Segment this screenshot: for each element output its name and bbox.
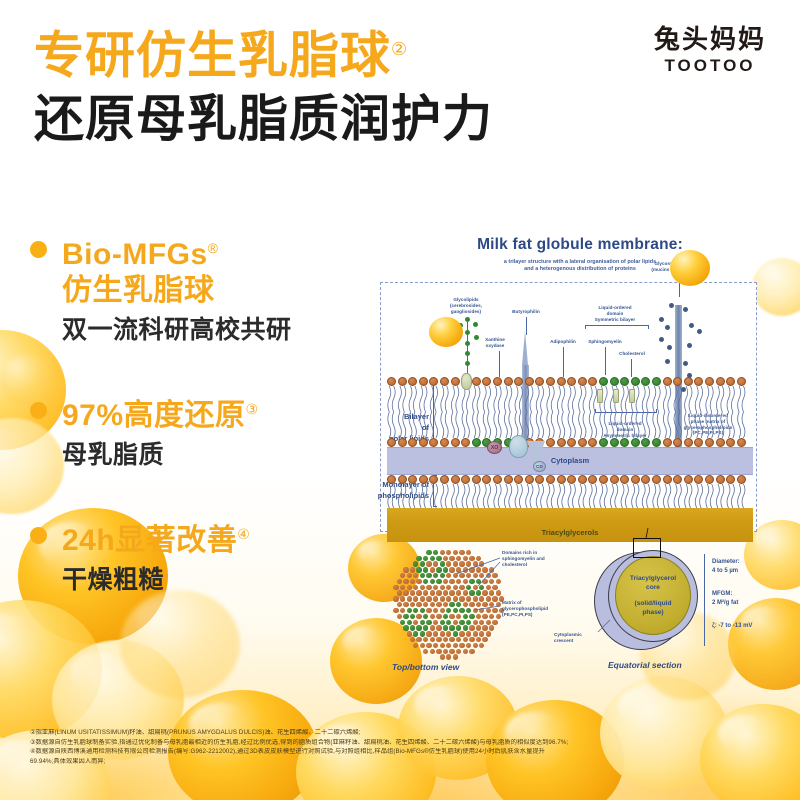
phospholipid-head <box>493 475 502 484</box>
sphingomyelin-domain-dot <box>446 608 451 613</box>
phospholipid-head <box>525 475 534 484</box>
glycerophospholipid-matrix-dot <box>446 585 451 590</box>
sphingomyelin-domain-dot <box>420 620 425 625</box>
leader-line <box>563 347 564 377</box>
brand-name-en: TOOTOO <box>654 55 766 77</box>
triacylglycerol-core-circle: Triacylglycerol core (solid/liquid phase… <box>615 556 691 635</box>
glycerophospholipid-matrix-dot <box>456 567 461 572</box>
phospholipid-head <box>451 438 460 447</box>
glycerophospholipid-matrix-dot <box>446 654 451 659</box>
glycerophospholipid-matrix-dot <box>489 602 494 607</box>
phospholipid-head <box>387 475 396 484</box>
sphingomyelin-domain-dot <box>413 561 418 566</box>
label-line: (solid/liquid <box>630 599 676 608</box>
sphingomyelin-head <box>610 438 619 447</box>
sphingomyelin-head <box>631 438 640 447</box>
glycerophospholipid-matrix-dot <box>410 637 415 642</box>
sphingomyelin-domain-dot <box>416 556 421 561</box>
glycerophospholipid-matrix-dot <box>443 602 448 607</box>
headline-block: 专研仿生乳脂球② 还原母乳脂质润护力 <box>34 20 493 149</box>
phospholipid-head <box>726 377 735 386</box>
glycerophospholipid-matrix-dot <box>456 579 461 584</box>
glycerophospholipid-matrix-dot <box>476 602 481 607</box>
sphingomyelin-domain-dot <box>420 608 425 613</box>
sphingomyelin-domain-dot <box>416 625 421 630</box>
phospholipid-head <box>578 475 587 484</box>
phospholipid-head <box>482 475 491 484</box>
label-line: (PE,PC,PI,PS) <box>502 612 572 618</box>
label-matrix-glycerophospholipid: Matrix of glycerophospholipid (PE,PC,PI,… <box>502 600 572 617</box>
glycerophospholipid-matrix-dot <box>416 614 421 619</box>
phospholipid-head <box>419 475 428 484</box>
glycolipid-stem <box>467 317 468 375</box>
sphingomyelin-head <box>641 438 650 447</box>
feature-item-24h: 24h显著改善④ 干燥粗糙 <box>0 516 370 597</box>
glycerophospholipid-matrix-dot <box>479 573 484 578</box>
sphingomyelin-head <box>610 377 619 386</box>
feature-title-text: 24h显著改善 <box>62 524 237 557</box>
glyco-node <box>697 329 702 334</box>
phospholipid-head <box>567 475 576 484</box>
glycerophospholipid-matrix-dot <box>476 637 481 642</box>
glycerophospholipid-matrix-dot <box>489 567 494 572</box>
feature-title-text: Bio-MFGs <box>62 238 208 271</box>
feature-subtitle: 母乳脂质 <box>62 438 370 472</box>
sphingomyelin-domain-dot <box>413 631 418 636</box>
glycolipid-node <box>465 330 470 335</box>
leader-line <box>605 347 606 375</box>
glycerophospholipid-matrix-dot <box>440 550 445 555</box>
glycerophospholipid-matrix-dot <box>482 602 487 607</box>
phospholipid-head <box>726 438 735 447</box>
sphingomyelin-domain-dot <box>436 579 441 584</box>
phospholipid-head <box>525 377 534 386</box>
feature-title-superscript: ④ <box>237 526 250 542</box>
phospholipid-head <box>716 377 725 386</box>
bullet-dot-icon <box>30 527 47 544</box>
glycerophospholipid-matrix-dot <box>440 654 445 659</box>
glycerophospholipid-matrix-dot <box>459 550 464 555</box>
diagram-subtitle-line2: and a heterogenous distribution of prote… <box>370 266 790 273</box>
lipid-tail-group <box>387 386 753 412</box>
phospholipid-head <box>716 475 725 484</box>
glycerophospholipid-matrix-dot <box>407 631 412 636</box>
label-glycolipids: Glycolipids (cerebrosides, gangliosides) <box>437 297 495 314</box>
sphingomyelin-domain-dot <box>436 556 441 561</box>
sphingomyelin-domain-dot <box>426 620 431 625</box>
sphingomyelin-head <box>620 377 629 386</box>
phospholipid-head <box>493 377 502 386</box>
phospholipid-head <box>387 438 396 447</box>
outer-leaflet-heads <box>387 377 753 386</box>
sphingomyelin-domain-dot <box>420 573 425 578</box>
label-butyrophilin: Butyrophilin <box>501 309 551 315</box>
glycerophospholipid-matrix-dot <box>482 590 487 595</box>
feature-item-restoration: 97%高度还原③ 母乳脂质 <box>0 391 370 472</box>
glycerophospholipid-matrix-dot <box>479 608 484 613</box>
sphingomyelin-domain-dot <box>436 567 441 572</box>
metric-line: ζ: -7 to -13 mV <box>712 622 752 631</box>
sphingomyelin-domain-dot <box>453 631 458 636</box>
phospholipid-head <box>737 377 746 386</box>
glycerophospholipid-matrix-dot <box>449 556 454 561</box>
glycerophospholipid-matrix-dot <box>469 556 474 561</box>
glycerophospholipid-matrix-dot <box>479 561 484 566</box>
feature-title: 24h显著改善④ <box>62 516 370 559</box>
label-line: gangliosides) <box>437 309 495 315</box>
glycerophospholipid-matrix-dot <box>473 620 478 625</box>
diagram-title: Milk fat globule membrane: <box>370 236 790 254</box>
label-line: Butyrophilin <box>501 309 551 315</box>
inner-leaflet-tails <box>387 412 753 438</box>
diagram-subtitle: a trilayer structure with a lateral orga… <box>370 259 790 273</box>
glycolipid-node <box>465 317 470 322</box>
glycerophospholipid-matrix-dot <box>492 608 497 613</box>
glycerophospholipid-matrix-dot <box>466 561 471 566</box>
glycerophospholipid-matrix-dot <box>466 573 471 578</box>
sphingomyelin-domain-dot <box>456 625 461 630</box>
feature-title-text: 97%高度还原 <box>62 399 246 432</box>
label-line: phase) <box>630 608 676 617</box>
glycerophospholipid-matrix-dot <box>476 625 481 630</box>
glycerophospholipid-matrix-dot <box>449 579 454 584</box>
zoom-region-box <box>633 538 661 558</box>
sphingomyelin-domain-dot <box>410 625 415 630</box>
glycerophospholipid-matrix-dot <box>430 614 435 619</box>
sphingomyelin-domain-dot <box>469 590 474 595</box>
glycerophospholipid-matrix-dot <box>486 585 491 590</box>
glycerophospholipid-matrix-dot <box>489 625 494 630</box>
glycerophospholipid-matrix-dot <box>496 602 501 607</box>
glycerophospholipid-matrix-dot <box>426 596 431 601</box>
glycerophospholipid-matrix-dot <box>473 596 478 601</box>
glycerophospholipid-matrix-dot <box>466 550 471 555</box>
phospholipid-head <box>684 475 693 484</box>
feature-title: Bio-MFGs® <box>62 230 370 273</box>
label-cholesterol: Cholesterol <box>607 351 657 357</box>
glycerophospholipid-matrix-dot <box>469 637 474 642</box>
phospholipid-head <box>461 438 470 447</box>
sphingomyelin-domain-dot <box>463 614 468 619</box>
label-sphingomyelin: Sphingomyelin <box>577 339 633 345</box>
glycerophospholipid-matrix-dot <box>440 596 445 601</box>
membrane-schematic-box: Bilayer of polar lipids Monolayer of pho… <box>380 282 757 532</box>
glycerophospholipid-matrix-dot <box>410 567 415 572</box>
sphingomyelin-domain-dot <box>400 620 405 625</box>
phospholipid-head <box>429 377 438 386</box>
sphingomyelin-domain-dot <box>440 561 445 566</box>
glycerophospholipid-matrix-dot <box>403 567 408 572</box>
cholesterol-molecule <box>597 389 603 403</box>
glycerophospholipid-matrix-dot <box>486 596 491 601</box>
glycerophospholipid-matrix-dot <box>449 649 454 654</box>
membrane-dot-circle <box>388 542 504 658</box>
glycerophospholipid-matrix-dot <box>436 625 441 630</box>
label-line: Sphingomyelin <box>577 339 633 345</box>
leader-line <box>499 351 500 377</box>
brace-symmetric-domain <box>585 325 649 329</box>
glycerophospholipid-matrix-dot <box>446 573 451 578</box>
label-line: core <box>630 583 676 592</box>
phospholipid-head <box>663 438 672 447</box>
glycerophospholipid-matrix-dot <box>463 590 468 595</box>
footnote-block: ②指亚麻(LINUM USITATISSIMUM)籽油、甜扁桃(PRUNUS A… <box>30 729 790 767</box>
glycerophospholipid-matrix-dot <box>416 637 421 642</box>
sphingomyelin-domain-dot <box>476 579 481 584</box>
phospholipid-head <box>398 438 407 447</box>
phospholipid-head <box>631 475 640 484</box>
glycerophospholipid-matrix-dot <box>436 602 441 607</box>
feature-title-line2: 仿生乳脂球 <box>62 273 370 309</box>
footnote-line: ④数据源自陕西博溪通用检测科技有限公司检测报告(编号:G962-2212002)… <box>30 748 790 757</box>
diagram-subtitle-line1: a trilayer structure with a lateral orga… <box>370 259 790 266</box>
product-detail-page: 专研仿生乳脂球② 还原母乳脂质润护力 兔头妈妈 TOOTOO Bio-MFGs®… <box>0 0 800 800</box>
phospholipid-head <box>652 475 661 484</box>
glycerophospholipid-matrix-dot <box>407 585 412 590</box>
sphingomyelin-domain-dot <box>426 573 431 578</box>
glycerophospholipid-matrix-dot <box>473 631 478 636</box>
glycerophospholipid-matrix-dot <box>456 649 461 654</box>
glycerophospholipid-matrix-dot <box>433 631 438 636</box>
phospholipid-head <box>705 377 714 386</box>
brand-name-cn: 兔头妈妈 <box>654 24 766 54</box>
glycerophospholipid-matrix-dot <box>413 643 418 648</box>
glycerophospholipid-matrix-dot <box>459 573 464 578</box>
glycerophospholipid-matrix-dot <box>403 602 408 607</box>
glyco-node <box>687 343 692 348</box>
glycerophospholipid-matrix-dot <box>476 556 481 561</box>
glycolipid-node <box>473 322 478 327</box>
phospholipid-head <box>737 438 746 447</box>
label-line: Triacylglycerol <box>630 574 676 583</box>
glycerophospholipid-matrix-dot <box>433 585 438 590</box>
mfgm-diagram: Milk fat globule membrane: a trilayer st… <box>370 228 790 678</box>
cholesterol-molecule <box>629 389 635 403</box>
phospholipid-head <box>663 377 672 386</box>
monolayer-tails <box>387 484 753 508</box>
glycerophospholipid-matrix-dot <box>400 573 405 578</box>
feature-item-bio-mfgs: Bio-MFGs® 仿生乳脂球 双一流科研高校共研 <box>0 230 370 347</box>
sphingomyelin-domain-dot <box>407 620 412 625</box>
glycerophospholipid-matrix-dot <box>433 620 438 625</box>
sphingomyelin-domain-dot <box>413 608 418 613</box>
sphingomyelin-domain-dot <box>446 620 451 625</box>
glycerophospholipid-matrix-dot <box>410 602 415 607</box>
phospholipid-head <box>398 475 407 484</box>
metric-line: 2 M²/g fat <box>712 599 738 608</box>
glycerophospholipid-matrix-dot <box>496 579 501 584</box>
glycerophospholipid-matrix-dot <box>473 608 478 613</box>
phospholipid-head <box>694 438 703 447</box>
page-header: 专研仿生乳脂球② 还原母乳脂质润护力 兔头妈妈 TOOTOO <box>0 0 800 170</box>
glycerophospholipid-matrix-dot <box>430 602 435 607</box>
glycerophospholipid-matrix-dot <box>489 579 494 584</box>
sphingomyelin-domain-dot <box>453 608 458 613</box>
sphingomyelin-domain-dot <box>420 631 425 636</box>
sphingomyelin-domain-dot <box>423 614 428 619</box>
glycerophospholipid-matrix-dot <box>436 614 441 619</box>
sphingomyelin-domain-dot <box>459 608 464 613</box>
glycolipid-node <box>474 335 479 340</box>
glycerophospholipid-matrix-dot <box>440 631 445 636</box>
sphingomyelin-domain-dot <box>476 590 481 595</box>
glycerophospholipid-matrix-dot <box>430 625 435 630</box>
metric-line: Diameter: <box>712 558 740 567</box>
headline-primary: 专研仿生乳脂球② <box>34 20 493 85</box>
phospholipid-head <box>567 377 576 386</box>
glycerophospholipid-matrix-dot <box>443 590 448 595</box>
phospholipid-head <box>408 438 417 447</box>
glycerophospholipid-matrix-dot <box>453 561 458 566</box>
phospholipid-head <box>408 377 417 386</box>
phospholipid-head <box>673 475 682 484</box>
sphingomyelin-domain-dot <box>423 579 428 584</box>
glycerophospholipid-matrix-dot <box>479 631 484 636</box>
phospholipid-head <box>684 377 693 386</box>
glycerophospholipid-matrix-dot <box>463 649 468 654</box>
phospholipid-head <box>726 475 735 484</box>
phospholipid-head <box>557 475 566 484</box>
glycerophospholipid-matrix-dot <box>469 649 474 654</box>
glycerophospholipid-matrix-dot <box>482 567 487 572</box>
sphingomyelin-domain-dot <box>407 608 412 613</box>
sphingomyelin-head <box>641 377 650 386</box>
sphingomyelin-head <box>599 377 608 386</box>
phospholipid-head <box>546 438 555 447</box>
phospholipid-head <box>694 377 703 386</box>
sphingomyelin-head <box>599 438 608 447</box>
metric-line: 4 to 5 µm <box>712 567 740 576</box>
glycerophospholipid-matrix-dot <box>463 579 468 584</box>
glycerophospholipid-matrix-dot <box>473 561 478 566</box>
glycerophospholipid-matrix-dot <box>407 573 412 578</box>
glycerophospholipid-matrix-dot <box>459 561 464 566</box>
label-line: cholesterol <box>502 562 572 568</box>
sphingomyelin-domain-dot <box>430 556 435 561</box>
inner-leaflet-heads <box>387 438 753 447</box>
phospholipid-head <box>641 475 650 484</box>
sphingomyelin-domain-dot <box>466 608 471 613</box>
phospholipid-head <box>673 377 682 386</box>
phospholipid-head <box>546 377 555 386</box>
phospholipid-head <box>535 377 544 386</box>
sphingomyelin-head <box>620 438 629 447</box>
phospholipid-head <box>514 377 523 386</box>
glycerophospholipid-matrix-dot <box>416 579 421 584</box>
phospholipid-head <box>472 377 481 386</box>
label-line: crescent <box>554 638 600 644</box>
glycerophospholipid-matrix-dot <box>423 637 428 642</box>
glycerophospholipid-matrix-dot <box>397 602 402 607</box>
phospholipid-head <box>387 377 396 386</box>
glycerophospholipid-matrix-dot <box>482 625 487 630</box>
cholesterol-molecule <box>613 389 619 403</box>
glycerophospholipid-matrix-dot <box>459 643 464 648</box>
glycerophospholipid-matrix-dot <box>463 556 468 561</box>
sphingomyelin-domain-dot <box>469 579 474 584</box>
label-domains-rich: Domains rich in sphingomyelin and choles… <box>502 550 572 567</box>
glyco-node <box>665 325 670 330</box>
bullet-dot-icon <box>30 241 47 258</box>
glycerophospholipid-matrix-dot <box>453 585 458 590</box>
phospholipid-head <box>398 377 407 386</box>
glycerophospholipid-matrix-dot <box>420 596 425 601</box>
glycerophospholipid-matrix-dot <box>456 590 461 595</box>
phospholipid-head <box>419 438 428 447</box>
glycerophospholipid-matrix-dot <box>469 625 474 630</box>
sphingomyelin-domain-dot <box>403 614 408 619</box>
caption-top-bottom-view: Top/bottom view <box>392 662 459 672</box>
glycerophospholipid-matrix-dot <box>413 573 418 578</box>
glycerophospholipid-matrix-dot <box>426 631 431 636</box>
glycerophospholipid-matrix-dot <box>463 567 468 572</box>
sphingomyelin-domain-dot <box>459 620 464 625</box>
metrics-bracket <box>704 554 708 646</box>
lipid-tail-group <box>387 412 753 438</box>
sphingomyelin-domain-dot <box>423 567 428 572</box>
glycerophospholipid-matrix-dot <box>482 614 487 619</box>
sphingomyelin-domain-dot <box>430 579 435 584</box>
phospholipid-head <box>567 438 576 447</box>
glycerophospholipid-matrix-dot <box>426 561 431 566</box>
footnote-line: 69.94%;具体效果因人而异; <box>30 758 790 767</box>
glycerophospholipid-matrix-dot <box>479 620 484 625</box>
glycerophospholipid-matrix-dot <box>446 596 451 601</box>
glycerophospholipid-matrix-dot <box>459 596 464 601</box>
glycerophospholipid-matrix-dot <box>443 556 448 561</box>
glycolipid-node <box>465 361 470 366</box>
phospholipid-head <box>737 475 746 484</box>
glycerophospholipid-matrix-dot <box>423 649 428 654</box>
metric-zeta: ζ: -7 to -13 mV <box>712 622 752 631</box>
glycerophospholipid-matrix-dot <box>426 585 431 590</box>
glycerophospholipid-matrix-dot <box>456 637 461 642</box>
glycerophospholipid-matrix-dot <box>413 596 418 601</box>
sphingomyelin-domain-dot <box>440 573 445 578</box>
glycerophospholipid-matrix-dot <box>479 596 484 601</box>
sphingomyelin-domain-dot <box>426 550 431 555</box>
glycerophospholipid-matrix-dot <box>456 556 461 561</box>
glycerophospholipid-matrix-dot <box>492 596 497 601</box>
butyrophilin-tip-icon <box>522 331 528 365</box>
phospholipid-head <box>588 475 597 484</box>
glycerophospholipid-matrix-dot <box>430 637 435 642</box>
glycerophospholipid-matrix-dot <box>393 608 398 613</box>
glycerophospholipid-matrix-dot <box>440 643 445 648</box>
glycerophospholipid-matrix-dot <box>440 608 445 613</box>
phospholipid-head <box>546 475 555 484</box>
label-cytoplasmic-crescent: Cytoplasmic crescent <box>554 632 600 644</box>
phospholipid-head <box>461 475 470 484</box>
glycerophospholipid-matrix-dot <box>433 643 438 648</box>
glycerophospholipid-matrix-dot <box>449 614 454 619</box>
phospholipid-head <box>429 438 438 447</box>
glycerophospholipid-matrix-dot <box>482 579 487 584</box>
glycerophospholipid-matrix-dot <box>476 567 481 572</box>
sphingomyelin-domain-dot <box>410 614 415 619</box>
glyco-node <box>659 337 664 342</box>
lipid-tail-group <box>387 484 753 508</box>
glycerophospholipid-matrix-dot <box>403 590 408 595</box>
sphingomyelin-domain-dot <box>479 585 484 590</box>
glycerophospholipid-matrix-dot <box>486 608 491 613</box>
glycerophospholipid-matrix-dot <box>440 585 445 590</box>
glycerophospholipid-matrix-dot <box>436 637 441 642</box>
membrane-stack: Cytoplasm Triacylglycerols <box>387 377 753 542</box>
glycerophospholipid-matrix-dot <box>393 596 398 601</box>
phospholipid-head <box>588 438 597 447</box>
sphingomyelin-domain-dot <box>443 614 448 619</box>
